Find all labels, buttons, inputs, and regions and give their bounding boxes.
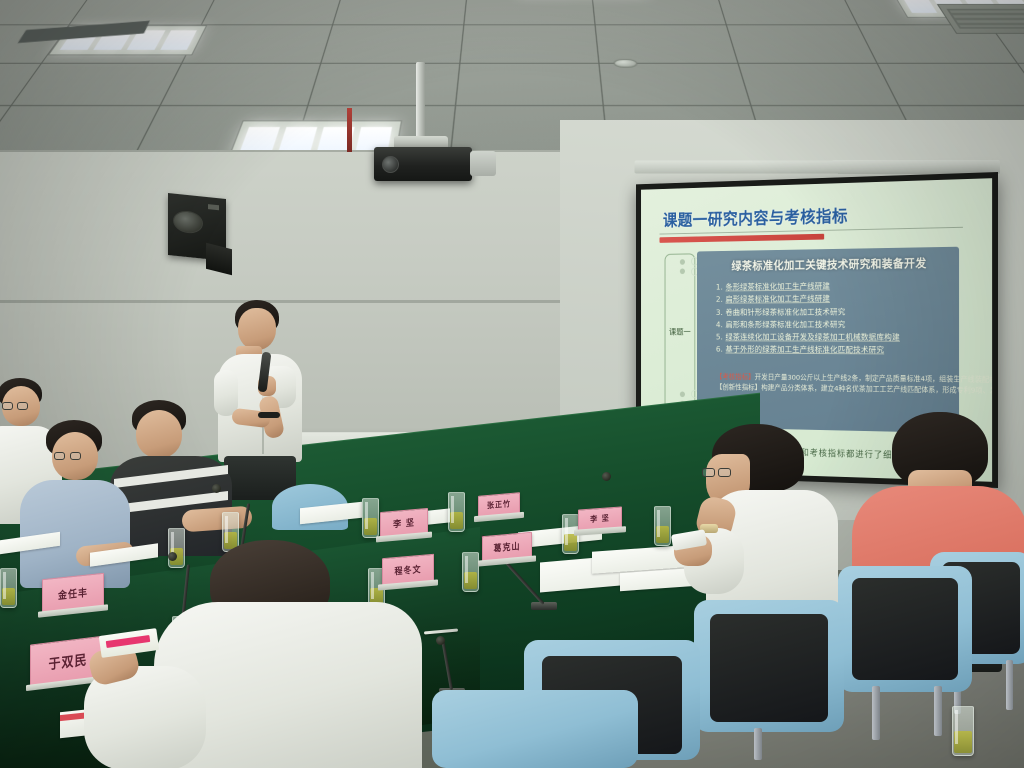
name-card-text: 金任丰 — [58, 584, 88, 602]
projector-lens-icon — [382, 156, 399, 173]
speaker-grille-icon — [173, 209, 203, 234]
screen-roller-case — [635, 160, 1000, 174]
meeting-chair — [694, 600, 850, 760]
meeting-chair — [432, 690, 642, 768]
attendee-foreground — [118, 540, 418, 768]
name-card: 张正竹 — [478, 492, 520, 518]
ceiling-tile — [596, 25, 739, 63]
name-card-text: 李 坚 — [393, 516, 415, 531]
ceiling-tile — [878, 63, 1024, 106]
desk-microphone — [540, 500, 548, 610]
slide-topic-box — [665, 253, 696, 423]
ceiling-tile — [717, 0, 859, 25]
tea-glass — [0, 568, 17, 608]
ceiling-tile — [321, 25, 464, 63]
glasses-icon — [702, 468, 736, 478]
slide-list-item-text: 扁形和条形绿茶标准化加工技术研究 — [725, 319, 845, 329]
presenter-head — [238, 308, 276, 350]
tea-glass — [462, 552, 479, 592]
conference-room-photo: 课题一研究内容与考核指标 课题一 绿茶标准化加工关键技术研究和装备开发 1.条形 — [0, 0, 1024, 768]
slide-list-item-text: 条形绿茶标准化加工生产线研建 — [725, 281, 830, 292]
ceiling-tile — [600, 63, 753, 106]
meeting-chair — [838, 566, 978, 746]
ceiling-tile — [308, 63, 461, 106]
chair-back-pad — [710, 614, 828, 722]
slide-list-item-number: 6. — [716, 344, 726, 357]
name-card: 金任丰 — [42, 573, 104, 614]
projector-mount-pole — [416, 62, 425, 140]
ceiling-tile — [456, 63, 604, 106]
name-card-text: 葛克山 — [494, 539, 521, 554]
glasses-icon — [2, 402, 44, 412]
slide-note-tag: 【创新性指标】 — [716, 383, 761, 392]
slide-list-item: 4.扁形和条形绿茶标准化加工技术研究 — [716, 318, 955, 331]
ceiling-tile — [160, 63, 321, 106]
name-card: 葛克山 — [482, 532, 532, 562]
chair-leg — [754, 728, 762, 760]
slide-title: 课题一研究内容与考核指标 — [663, 202, 848, 230]
fluorescent-tube — [160, 30, 198, 50]
chair-back-pad — [852, 578, 958, 680]
tea-glass — [448, 492, 465, 532]
chair-back — [432, 690, 638, 768]
chair-leg — [934, 686, 942, 736]
ceiling-tile — [333, 0, 468, 25]
desk-microphone — [448, 636, 456, 696]
slide-content-heading: 绿茶标准化加工关键技术研究和装备开发 — [712, 255, 947, 274]
slide-list-item-number: 4. — [716, 319, 726, 331]
name-card-text: 李 坚 — [590, 513, 609, 526]
fluorescent-tube — [901, 0, 938, 13]
ceiling-tile — [201, 0, 343, 25]
ceiling-tile — [739, 63, 900, 106]
ceiling-tile — [592, 0, 727, 25]
tea-glass — [362, 498, 379, 538]
glasses-icon — [54, 452, 100, 462]
slide-list-item: 6.基于外形的绿茶加工生产线标准化匹配技术研究 — [716, 344, 955, 358]
ceiling-tile — [12, 63, 182, 106]
slide-note-tag: 【考核指标】 — [716, 372, 755, 381]
projector-icon — [374, 147, 472, 181]
chair-leg — [1006, 660, 1013, 710]
ceiling-tile — [727, 25, 878, 63]
name-card-text: 于双民 — [48, 649, 87, 673]
name-card: 李 坚 — [578, 506, 622, 531]
slide-note-text: 构建产品分类体系，建立4种名优茶加工工艺产线匹配体系，形成专利9项、发表论文3篇 — [761, 384, 992, 396]
slide-list-item-number: 5. — [716, 331, 726, 344]
slide-list-item-text: 绿茶连续化加工设备开发及绿茶加工机械数据库构建 — [725, 332, 899, 342]
name-card: 李 坚 — [380, 508, 428, 538]
chair-leg — [872, 686, 880, 740]
slide-list-item: 2.扁形绿茶标准化加工生产线研建 — [716, 292, 955, 306]
microphone-head-icon — [212, 484, 221, 493]
microphone-head-icon — [436, 636, 445, 645]
slide-accent-bar — [660, 234, 825, 243]
slide-list-item-number: 3. — [716, 306, 726, 319]
tea-glass — [654, 506, 671, 546]
ceiling-tile — [0, 107, 160, 156]
slide-topic-label: 课题一 — [665, 326, 694, 337]
speaker-led-icon — [208, 204, 219, 210]
slide-list-item-number: 1. — [716, 281, 726, 294]
name-card-text: 张正竹 — [487, 498, 511, 512]
ceiling-tile — [464, 0, 595, 25]
smoke-detector-icon — [613, 59, 638, 68]
laser-pointer-icon — [258, 412, 280, 418]
slide-research-list: 1.条形绿茶标准化加工生产线研建2.扁形绿茶标准化加工生产线研建3.卷曲和针形绿… — [716, 278, 955, 357]
slide-list-item-number: 2. — [716, 294, 726, 307]
slide-list-item: 3.卷曲和针形绿茶标准化加工技术研究 — [716, 305, 955, 319]
slide-list-item-text: 卷曲和针形绿茶标准化加工技术研究 — [725, 306, 845, 316]
ceiling-red-marker — [347, 108, 352, 152]
ceiling-tile — [460, 25, 599, 63]
slide-list-item-text: 扁形绿茶标准化加工生产线研建 — [725, 294, 830, 304]
slide-list-item: 5.绿茶连续化加工设备开发及绿茶加工机械数据库构建 — [716, 331, 955, 344]
slide-list-item-text: 基于外形的绿茶加工生产线标准化匹配技术研究 — [725, 344, 884, 354]
microphone-head-icon — [602, 472, 611, 481]
